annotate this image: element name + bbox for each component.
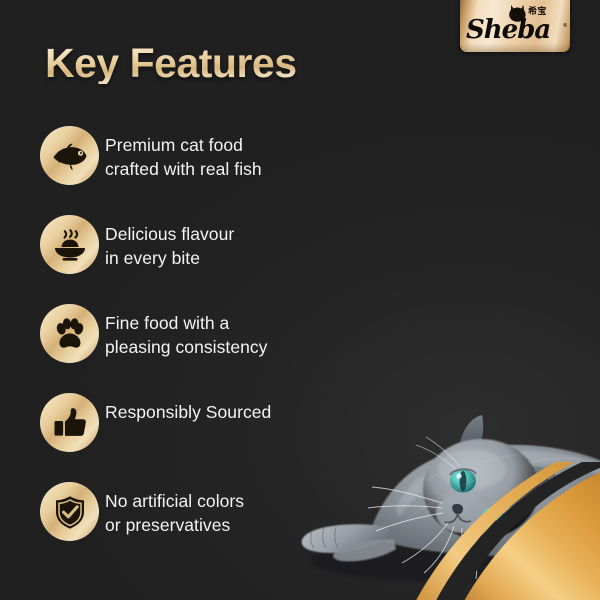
gold-swoosh — [400, 462, 600, 600]
feature-text: Fine food with a pleasing consistency — [105, 312, 267, 360]
steaming-bowl-icon — [40, 215, 99, 274]
feature-text: No artificial colors or preservatives — [105, 490, 244, 538]
cat-whiskers — [368, 487, 477, 579]
list-item: No artificial colors or preservatives — [0, 482, 360, 571]
paw-print-icon — [40, 304, 99, 363]
shield-check-icon — [40, 482, 99, 541]
list-item: Premium cat food crafted with real fish — [0, 126, 360, 215]
feature-text: Premium cat food crafted with real fish — [105, 134, 262, 182]
page-title: Key Features — [45, 43, 297, 84]
cat-eye-left — [450, 469, 476, 492]
svg-text:Sheba: Sheba — [466, 15, 550, 44]
list-item: Fine food with a pleasing consistency — [0, 304, 360, 393]
cat-ear — [512, 466, 558, 499]
thumbs-up-icon — [40, 393, 99, 452]
fish-icon — [40, 126, 99, 185]
feature-text: Responsibly Sourced — [105, 401, 271, 425]
brand-banner: 希宝 Sheba ® — [460, 0, 570, 52]
cat-nose — [452, 504, 463, 515]
list-item: Responsibly Sourced — [0, 393, 360, 482]
cat-eye-right — [481, 507, 505, 529]
list-item: Delicious flavour in every bite — [0, 215, 360, 304]
key-features-banner: 希宝 Sheba ® Key Features Premium c — [0, 0, 600, 600]
cat-head — [423, 439, 539, 539]
feature-list: Premium cat food crafted with real fish … — [0, 126, 360, 571]
trademark-symbol: ® — [563, 23, 567, 29]
feature-text: Delicious flavour in every bite — [105, 223, 234, 271]
cat-body — [372, 445, 600, 557]
brand-wordmark: Sheba — [466, 14, 564, 44]
gold-arc-icon — [400, 462, 600, 600]
